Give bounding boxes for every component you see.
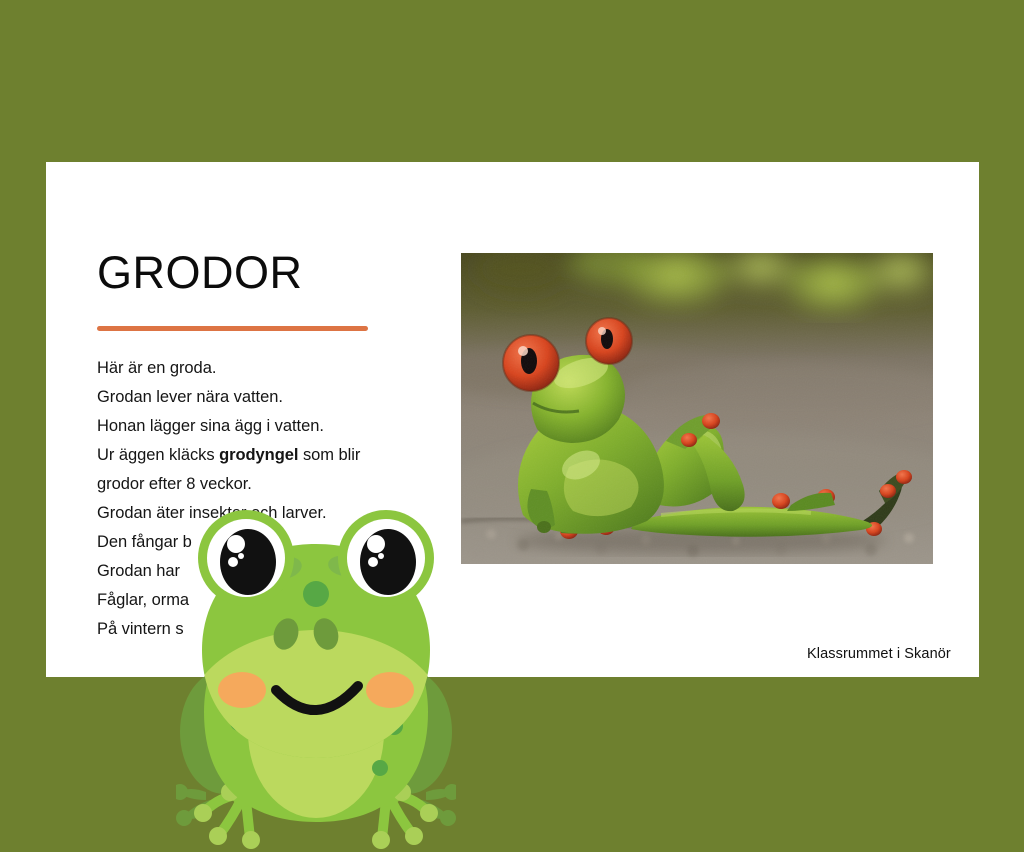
body-line-pre: Ur äggen kläcks xyxy=(97,446,219,464)
frog-cheeks xyxy=(218,672,414,708)
body-line: Honan lägger sina ägg i vatten. xyxy=(97,412,427,441)
body-line: Grodan har xyxy=(97,557,427,586)
frog-smile xyxy=(276,686,358,710)
frog-photo xyxy=(461,253,933,564)
body-line-with-bold: Ur äggen kläcks grodyngel som blir xyxy=(97,441,427,470)
body-line-bold-term: grodyngel xyxy=(219,446,298,464)
body-line: Här är en groda. xyxy=(97,354,427,383)
frog-haunches xyxy=(180,670,452,794)
body-text-block: Här är en groda. Grodan lever nära vatte… xyxy=(97,354,427,644)
body-line: Grodan lever nära vatten. xyxy=(97,383,427,412)
footer-credit: Klassrummet i Skanör xyxy=(807,646,951,662)
title-underline-divider xyxy=(97,326,368,331)
page-title: GRODOR xyxy=(97,250,427,295)
body-line: grodor efter 8 veckor. xyxy=(97,470,427,499)
body-line: Fåglar, orma xyxy=(97,586,427,615)
body-line: På vintern s xyxy=(97,615,427,644)
body-line-post: som blir xyxy=(298,446,360,464)
frog-feet xyxy=(176,773,456,849)
text-column: GRODOR Här är en groda. Grodan lever när… xyxy=(97,250,427,644)
body-line: Grodan äter insekter och larver. xyxy=(97,499,427,528)
slide-card: GRODOR Här är en groda. Grodan lever när… xyxy=(46,162,979,677)
body-line: Den fångar b xyxy=(97,528,427,557)
